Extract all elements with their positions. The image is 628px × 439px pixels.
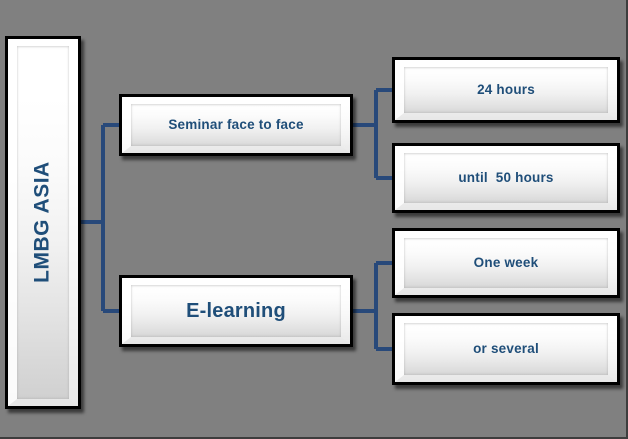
node-e-learning[interactable]: E-learning: [119, 275, 353, 347]
node-face: until 50 hours: [395, 146, 617, 210]
node-or-several[interactable]: or several: [392, 313, 620, 385]
node-24-hours[interactable]: 24 hours: [392, 57, 620, 123]
node-face: or several: [395, 316, 617, 382]
node-label-seminar-face-to-face: Seminar face to face: [168, 117, 303, 133]
node-until-50-hours[interactable]: until 50 hours: [392, 143, 620, 213]
node-label-until-50-hours: until 50 hours: [458, 170, 553, 186]
node-label-24-hours: 24 hours: [477, 82, 535, 98]
node-label-or-several: or several: [473, 341, 539, 357]
node-face: E-learning: [122, 278, 350, 344]
node-label-one-week: One week: [474, 255, 539, 271]
node-label-lmbg-asia: LMBG ASIA: [31, 162, 55, 284]
node-one-week[interactable]: One week: [392, 228, 620, 298]
node-face: LMBG ASIA: [8, 39, 78, 406]
node-face: 24 hours: [395, 60, 617, 120]
node-label-e-learning: E-learning: [186, 300, 286, 323]
node-face: One week: [395, 231, 617, 295]
node-seminar-face-to-face[interactable]: Seminar face to face: [119, 94, 353, 156]
node-lmbg-asia[interactable]: LMBG ASIA: [5, 36, 81, 409]
diagram-canvas: LMBG ASIA Seminar face to face E-learnin…: [0, 0, 628, 439]
node-face: Seminar face to face: [122, 97, 350, 153]
